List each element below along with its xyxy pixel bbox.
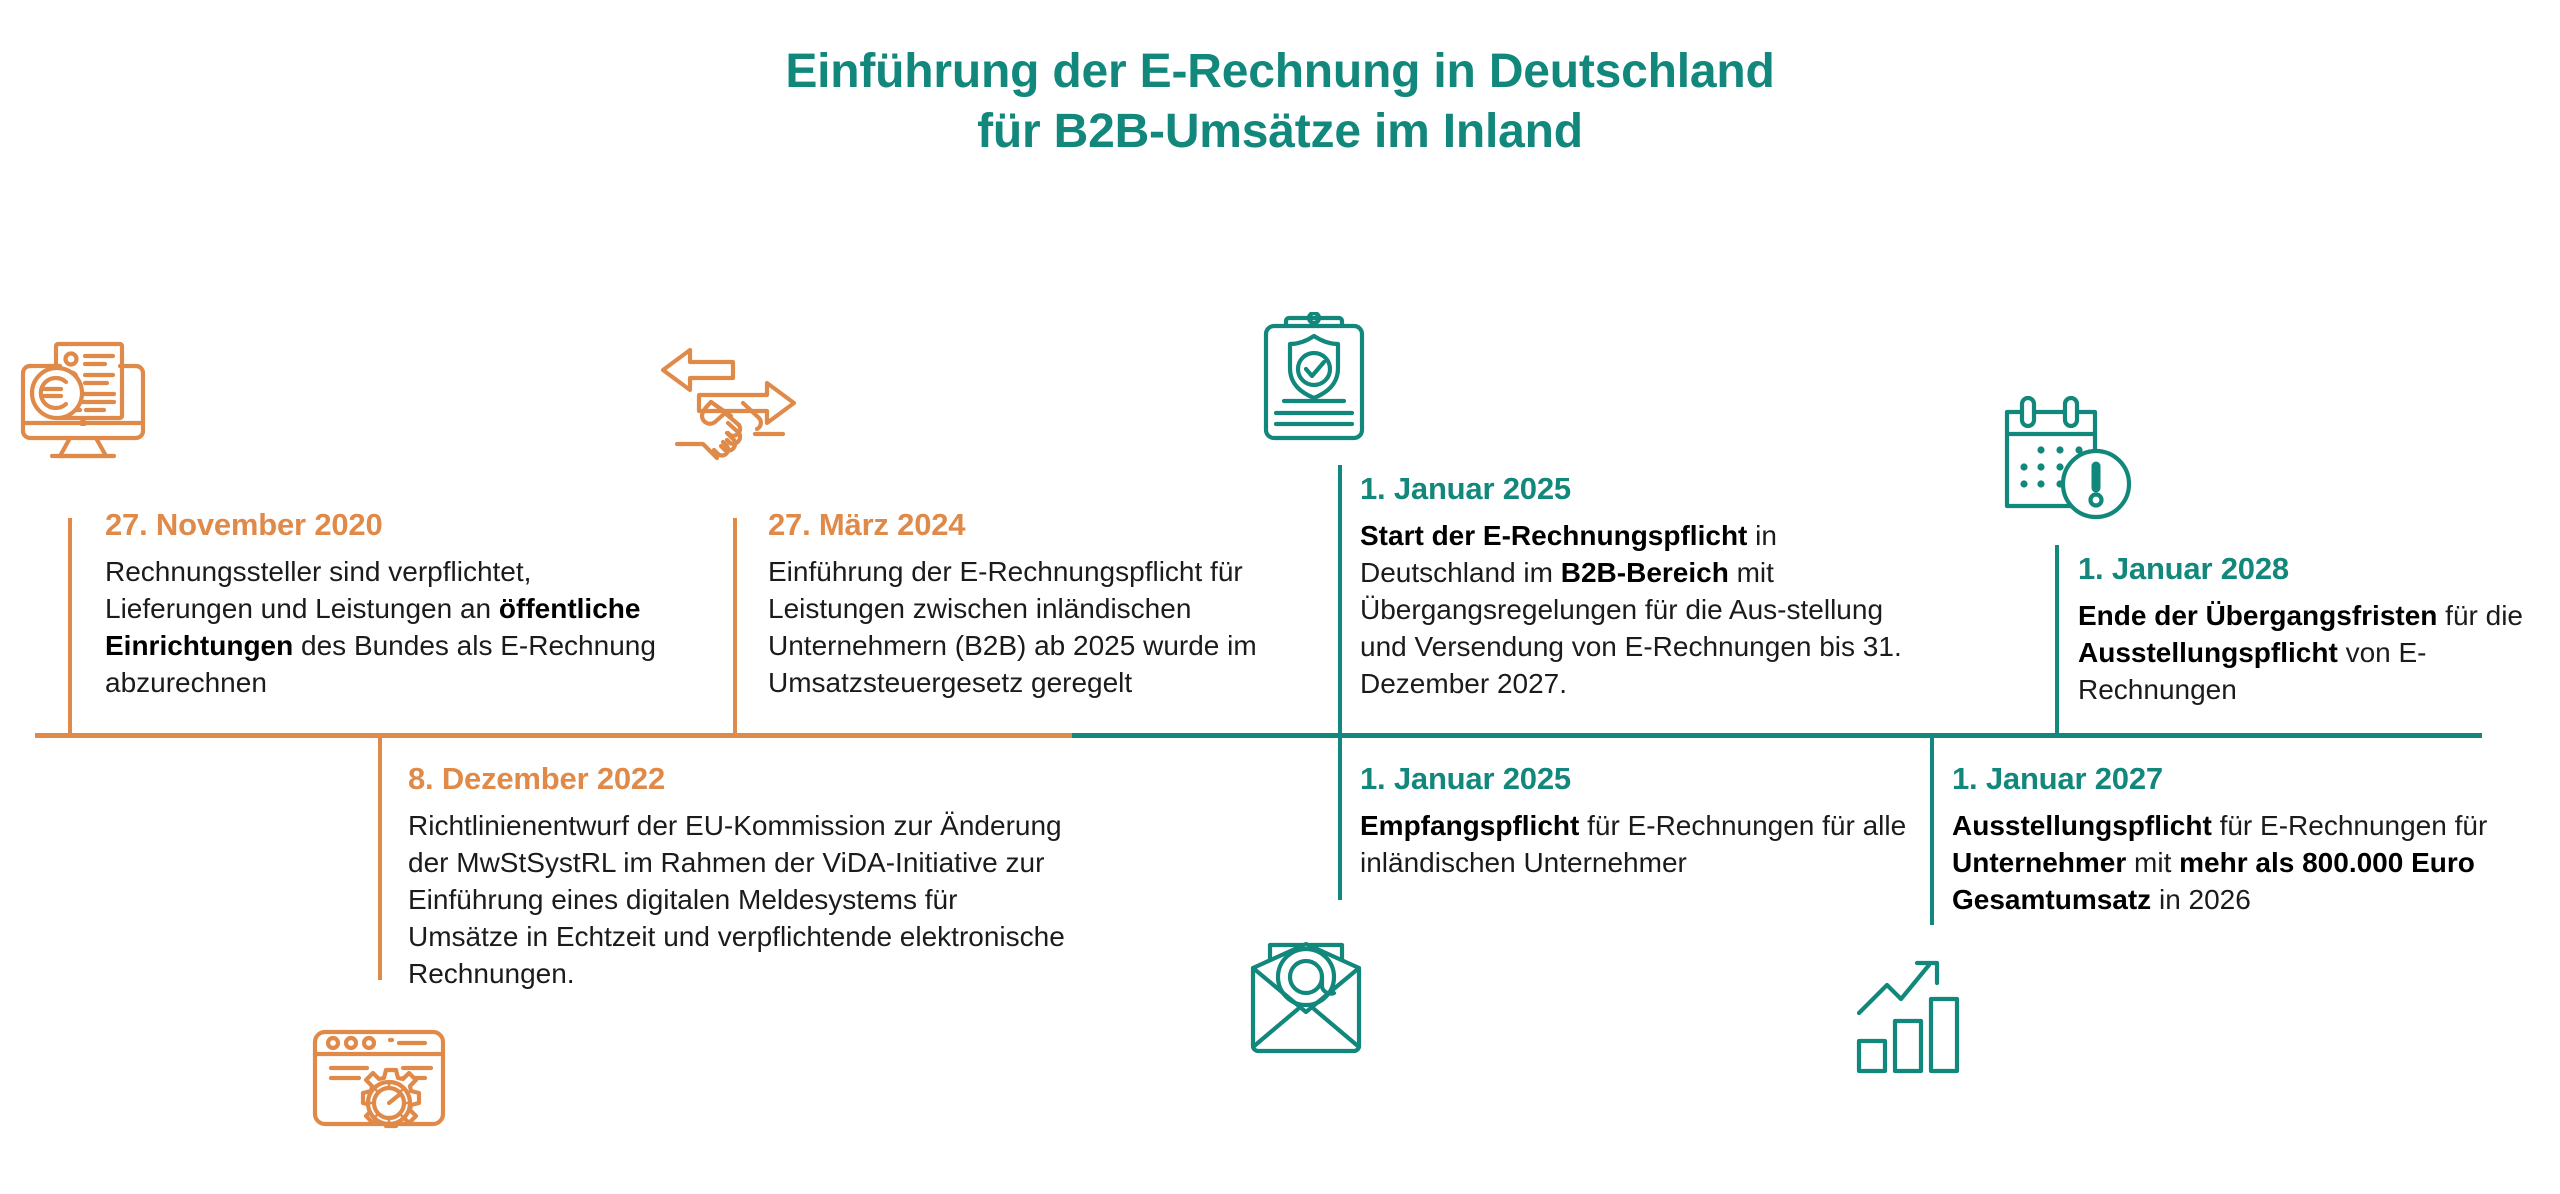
browser-gear-icon: [305, 1022, 465, 1167]
timeline-axis-orange-segment: [35, 733, 1075, 738]
clipboard-shield-check-icon: [1258, 312, 1383, 462]
connector-2022: [378, 735, 382, 980]
page-title: Einführung der E-Rechnung in Deutschland…: [0, 42, 2560, 162]
timeline-entry-2027: 1. Januar 2027 Ausstellungspflicht für E…: [1952, 762, 2532, 919]
title-line-1: Einführung der E-Rechnung in Deutschland: [785, 45, 1774, 98]
timeline-entry-2022-date: 8. Dezember 2022: [408, 762, 1068, 796]
timeline-entry-2028-date: 1. Januar 2028: [2078, 552, 2548, 586]
timeline-entry-2020-body: Rechnungssteller sind verpflichtet, Lief…: [105, 554, 665, 702]
timeline-entry-2024-body: Einführung der E-Rechnungspflicht für Le…: [768, 554, 1308, 702]
connector-2028: [2055, 545, 2059, 736]
timeline-entry-2022-body: Richtlinienentwurf der EU-Kommission zur…: [408, 808, 1068, 993]
calendar-alert-icon: [1995, 390, 2145, 535]
timeline-entry-2024: 27. März 2024 Einführung der E-Rechnungs…: [768, 508, 1308, 702]
handshake-exchange-icon: [655, 340, 830, 470]
timeline-entry-2022: 8. Dezember 2022 Richtlinienentwurf der …: [408, 762, 1068, 993]
monitor-invoice-euro-icon: [8, 330, 178, 480]
timeline-axis-teal-segment: [1072, 733, 2482, 738]
timeline-entry-2025-start-date: 1. Januar 2025: [1360, 472, 1935, 506]
envelope-at-icon: [1245, 942, 1390, 1072]
timeline-entry-2020: 27. November 2020 Rechnungssteller sind …: [105, 508, 665, 702]
timeline-entry-2025-receive-date: 1. Januar 2025: [1360, 762, 1940, 796]
connector-2025b: [1338, 735, 1342, 900]
timeline-entry-2025-start-body: Start der E-Rechnungspflicht in Deutschl…: [1360, 518, 1935, 703]
timeline-entry-2025-start: 1. Januar 2025 Start der E-Rechnungspfli…: [1360, 472, 1935, 703]
timeline-entry-2024-date: 27. März 2024: [768, 508, 1308, 542]
timeline-entry-2028: 1. Januar 2028 Ende der Übergangsfristen…: [2078, 552, 2548, 709]
title-line-2: für B2B-Umsätze im Inland: [0, 102, 2560, 162]
connector-2020: [68, 518, 72, 736]
connector-2025a: [1338, 465, 1342, 736]
infographic-canvas: Einführung der E-Rechnung in Deutschland…: [0, 0, 2560, 1194]
timeline-entry-2027-date: 1. Januar 2027: [1952, 762, 2532, 796]
connector-2024: [733, 518, 737, 736]
timeline-entry-2025-receive-body: Empfangspflicht für E-Rechnungen für all…: [1360, 808, 1940, 882]
growth-bar-chart-icon: [1855, 945, 1995, 1075]
timeline-entry-2025-receive: 1. Januar 2025 Empfangspflicht für E-Rec…: [1360, 762, 1940, 882]
timeline-entry-2028-body: Ende der Übergangsfristen für die Ausste…: [2078, 598, 2548, 709]
timeline-entry-2020-date: 27. November 2020: [105, 508, 665, 542]
timeline-entry-2027-body: Ausstellungspflicht für E-Rechnungen für…: [1952, 808, 2532, 919]
